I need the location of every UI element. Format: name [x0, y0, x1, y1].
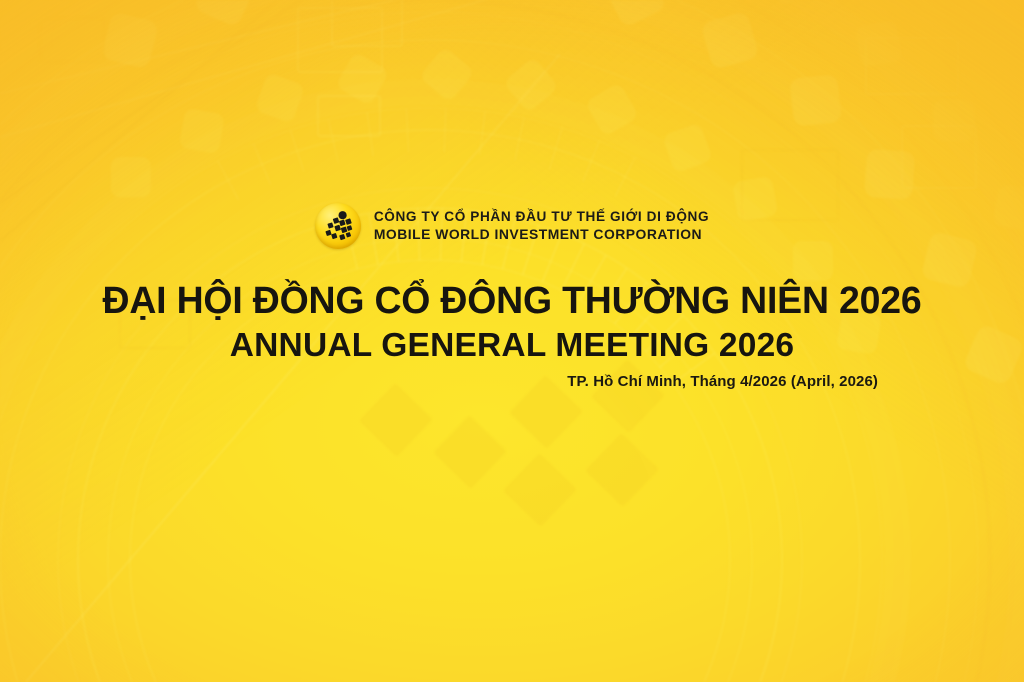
company-name-vietnamese: CÔNG TY CỔ PHẦN ĐẦU TƯ THẾ GIỚI DI ĐỘNG [374, 210, 709, 224]
company-name-english: MOBILE WORLD INVESTMENT CORPORATION [374, 227, 709, 241]
meeting-location-date: TP. Hồ Chí Minh, Tháng 4/2026 (April, 20… [567, 373, 878, 390]
mwg-running-man-icon [315, 203, 361, 249]
headline-block: ĐẠI HỘI ĐỒNG CỔ ĐÔNG THƯỜNG NIÊN 2026 AN… [0, 281, 1024, 364]
meeting-title-vietnamese: ĐẠI HỘI ĐỒNG CỔ ĐÔNG THƯỜNG NIÊN 2026 [8, 281, 1017, 321]
meeting-title-english: ANNUAL GENERAL MEETING 2026 [0, 328, 1024, 364]
company-brand-lockup: CÔNG TY CỔ PHẦN ĐẦU TƯ THẾ GIỚI DI ĐỘNG … [0, 203, 1024, 249]
cover-slide: CÔNG TY CỔ PHẦN ĐẦU TƯ THẾ GIỚI DI ĐỘNG … [0, 0, 1024, 682]
slide-content: CÔNG TY CỔ PHẦN ĐẦU TƯ THẾ GIỚI DI ĐỘNG … [0, 0, 1024, 682]
company-name-block: CÔNG TY CỔ PHẦN ĐẦU TƯ THẾ GIỚI DI ĐỘNG … [374, 210, 709, 241]
